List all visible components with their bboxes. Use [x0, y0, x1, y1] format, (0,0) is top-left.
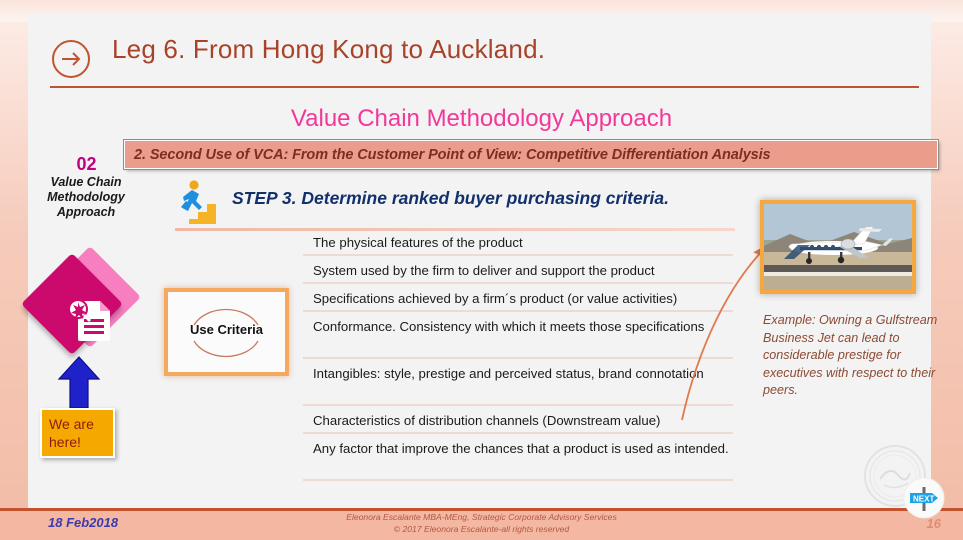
- chapter-badge: [24, 255, 142, 350]
- header-divider: [50, 86, 919, 88]
- step-title: STEP 3. Determine ranked buyer purchasin…: [232, 188, 669, 209]
- footer-credit: Eleonora Escalante MBA-MEng, Strategic C…: [0, 512, 963, 535]
- frame-right-border: [931, 0, 963, 518]
- document-magnifier-icon: [62, 293, 118, 343]
- section-banner: 2. Second Use of VCA: From the Customer …: [124, 140, 938, 169]
- chapter-caption: Value Chain Methodology Approach: [26, 175, 146, 220]
- list-item[interactable]: Any factor that improve the chances that…: [303, 434, 735, 481]
- up-arrow-icon: [57, 355, 101, 410]
- we-are-here-label: We are here!: [49, 416, 94, 450]
- runner-stairs-icon: [174, 178, 224, 226]
- chapter-number: 02: [34, 154, 139, 175]
- page-title: Leg 6. From Hong Kong to Auckland.: [112, 34, 545, 65]
- use-criteria-label: Use Criteria: [168, 322, 285, 337]
- we-are-here-callout: We are here!: [40, 408, 115, 458]
- footer-credit-line2: © 2017 Eleonora Escalante-all rights res…: [0, 524, 963, 536]
- section-banner-label: 2. Second Use of VCA: From the Customer …: [125, 147, 771, 163]
- example-caption: Example: Owning a Gulfstream Business Je…: [763, 312, 938, 400]
- slide-canvas: Leg 6. From Hong Kong to Auckland. Value…: [0, 0, 963, 540]
- footer-credit-line1: Eleonora Escalante MBA-MEng, Strategic C…: [0, 512, 963, 524]
- subtitle: Value Chain Methodology Approach: [0, 105, 963, 133]
- circle-arrow-right-icon: [50, 38, 92, 80]
- slide-header: Leg 6. From Hong Kong to Auckland.: [50, 36, 910, 86]
- use-criteria-box: Use Criteria: [164, 288, 289, 376]
- business-jet-photo: [760, 200, 916, 294]
- next-label: NEXT: [913, 494, 934, 503]
- list-item-text: Any factor that improve the chances that…: [313, 440, 731, 457]
- page-number: 16: [927, 516, 941, 531]
